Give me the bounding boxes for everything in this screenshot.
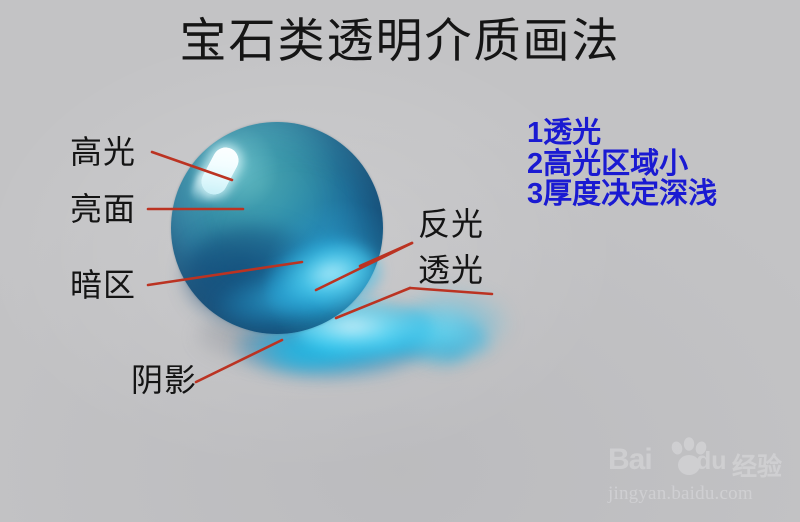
annotation-label-fanguang: 反光	[418, 208, 484, 240]
key-points-list: 1透光 2高光区域小 3厚度决定深浅	[527, 118, 717, 210]
annotation-label-anqu: 暗区	[70, 269, 136, 301]
gem-sphere-illustration	[0, 0, 800, 522]
annotation-label-gaoguang: 高光	[70, 136, 136, 168]
key-point-1: 1透光	[527, 118, 717, 149]
key-point-2: 2高光区域小	[527, 149, 717, 180]
illustration-canvas: 宝石类透明介质画法	[0, 0, 800, 522]
annotation-label-liangmian: 亮面	[70, 193, 136, 225]
annotation-label-yinying: 阴影	[131, 364, 197, 396]
gem-sphere	[171, 122, 383, 334]
annotation-label-touguang: 透光	[418, 254, 484, 286]
key-point-3: 3厚度决定深浅	[527, 179, 717, 210]
